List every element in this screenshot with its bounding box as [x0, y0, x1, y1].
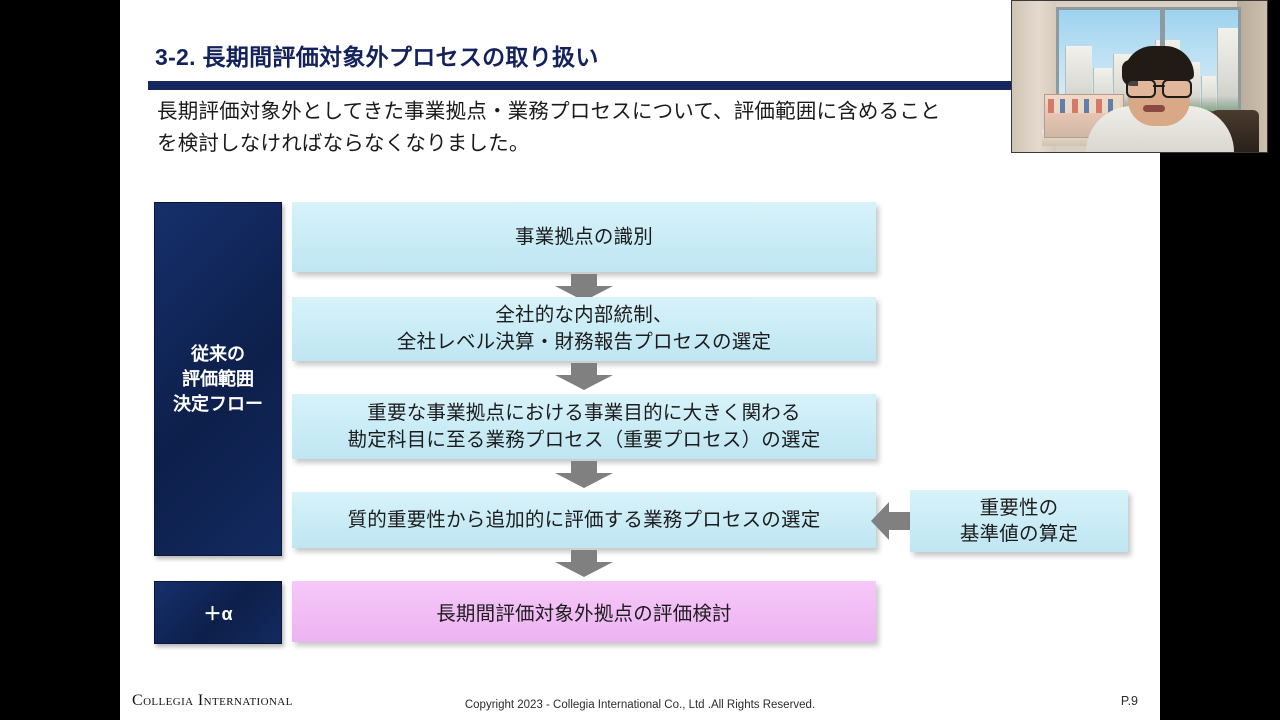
lead-paragraph-line-2: を検討しなければならなくなりました。	[157, 128, 1157, 160]
arrow-left-icon	[871, 498, 915, 544]
speaker-mouth	[1143, 105, 1165, 112]
flow-box-1: 事業拠点の識別	[292, 202, 876, 272]
flow-box-2-line-2: 全社レベル決算・財務報告プロセスの選定	[397, 329, 771, 356]
arrow-down-icon	[551, 461, 617, 488]
lead-paragraph-line-1: 長期評価対象外としてきた事業拠点・業務プロセスについて、評価範囲に含めること	[157, 100, 941, 123]
flow-box-4-line-1: 質的重要性から追加的に評価する業務プロセスの選定	[348, 507, 821, 534]
slide-canvas: 3-2. 長期間評価対象外プロセスの取り扱い 長期評価対象外としてきた事業拠点・…	[120, 0, 1160, 720]
page-number: P.9	[1121, 694, 1138, 708]
flow-box-2-line-1: 全社的な内部統制、	[397, 302, 771, 329]
flow-box-additional: 長期間評価対象外拠点の評価検討	[292, 581, 876, 642]
lead-paragraph: 長期評価対象外としてきた事業拠点・業務プロセスについて、評価範囲に含めること を…	[157, 96, 1157, 160]
flow-box-3: 重要な事業拠点における事業目的に大きく関わる 勘定科目に至る業務プロセス（重要プ…	[292, 394, 876, 459]
side-note-line-1: 重要性の	[960, 495, 1078, 521]
side-note-line-2: 基準値の算定	[960, 521, 1078, 547]
copyright-notice: Copyright 2023 - Collegia International …	[120, 699, 1160, 711]
flow-box-3-line-2: 勘定科目に至る業務プロセス（重要プロセス）の選定	[348, 427, 821, 454]
flow-box-additional-line-1: 長期間評価対象外拠点の評価検討	[436, 597, 732, 626]
side-note-box: 重要性の 基準値の算定	[910, 490, 1128, 552]
flow-box-3-line-1: 重要な事業拠点における事業目的に大きく関わる	[348, 400, 821, 427]
arrow-down-icon	[551, 363, 617, 390]
plus-alpha-label: ＋α	[154, 581, 282, 644]
flow-box-1-line-1: 事業拠点の識別	[515, 224, 653, 251]
webcam-video-overlay[interactable]	[1011, 0, 1268, 153]
speaker-glasses	[1126, 79, 1192, 94]
flow-stage-label-line-2: 評価範囲	[173, 367, 263, 392]
flow-stage-label: 従来の 評価範囲 決定フロー	[154, 202, 282, 556]
page-title: 3-2. 長期間評価対象外プロセスの取り扱い	[155, 38, 599, 72]
arrow-down-icon	[551, 550, 617, 577]
flow-stage-label-line-3: 決定フロー	[173, 392, 263, 417]
flow-stage-label-line-1: 従来の	[173, 342, 263, 367]
title-divider	[148, 81, 1138, 90]
flow-box-4: 質的重要性から追加的に評価する業務プロセスの選定	[292, 492, 876, 548]
flow-box-2: 全社的な内部統制、 全社レベル決算・財務報告プロセスの選定	[292, 297, 876, 361]
